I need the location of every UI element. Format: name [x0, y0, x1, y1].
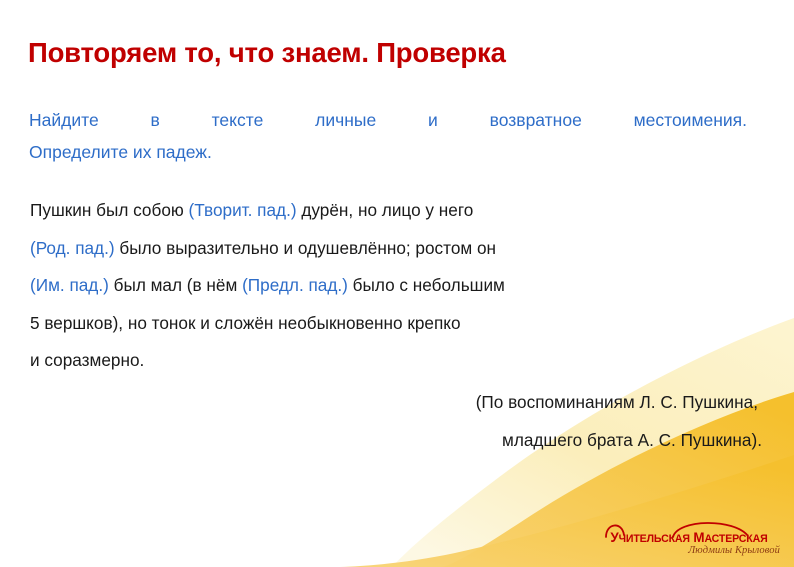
body-line-5: и соразмерно. — [30, 342, 750, 380]
body-line-1: Пушкин был собою (Творит. пад.) дурён, н… — [30, 192, 750, 230]
attribution-line-2: младшего брата А. С. Пушкина). — [30, 422, 764, 460]
body-line-2: (Род. пад.) было выразительно и одушевлё… — [30, 230, 750, 268]
body-line-1-text-b: дурён, но лицо у него — [297, 200, 474, 220]
body-paragraph: Пушкин был собою (Творит. пад.) дурён, н… — [30, 192, 750, 380]
body-line-3: (Им. пад.) был мал (в нём (Предл. пад.) … — [30, 267, 750, 305]
body-line-1-text-a: Пушкин был собою — [30, 200, 189, 220]
instruction-block: Найдите в тексте личные и возвратное мес… — [29, 104, 747, 168]
attribution-block: (По воспоминаниям Л. С. Пушкина, младшег… — [30, 384, 764, 459]
body-line-2-text: было выразительно и одушевлённо; ростом … — [115, 238, 496, 258]
case-marker-nominative: (Им. пад.) — [30, 275, 109, 295]
case-marker-prepositional: (Предл. пад.) — [242, 275, 348, 295]
attribution-line-1: (По воспоминаниям Л. С. Пушкина, — [30, 384, 764, 422]
case-marker-genitive: (Род. пад.) — [30, 238, 115, 258]
body-line-3-text-b: было с небольшим — [348, 275, 505, 295]
logo-subtitle: Людмилы Крыловой — [596, 545, 780, 556]
logo-word2-initial: М — [690, 530, 705, 545]
body-line-3-text-mid: был мал (в нём — [109, 275, 242, 295]
logo: УЧИТЕЛЬСКАЯ МАСТЕРСКАЯ Людмилы Крыловой — [596, 516, 782, 560]
case-marker-instrumental: (Творит. пад.) — [189, 200, 297, 220]
logo-word1-rest: ЧИТЕЛЬСКАЯ — [619, 533, 690, 545]
instruction-line-1: Найдите в тексте личные и возвратное мес… — [29, 104, 747, 136]
instruction-line-2: Определите их падеж. — [29, 136, 747, 168]
logo-word2-rest: АСТЕРСКАЯ — [704, 533, 767, 545]
body-line-4: 5 вершков), но тонок и сложён необыкнове… — [30, 305, 750, 343]
page-title: Повторяем то, что знаем. Проверка — [28, 36, 748, 70]
slide-canvas: Повторяем то, что знаем. Проверка Найдит… — [0, 0, 794, 567]
logo-word1-initial: У — [610, 530, 618, 545]
